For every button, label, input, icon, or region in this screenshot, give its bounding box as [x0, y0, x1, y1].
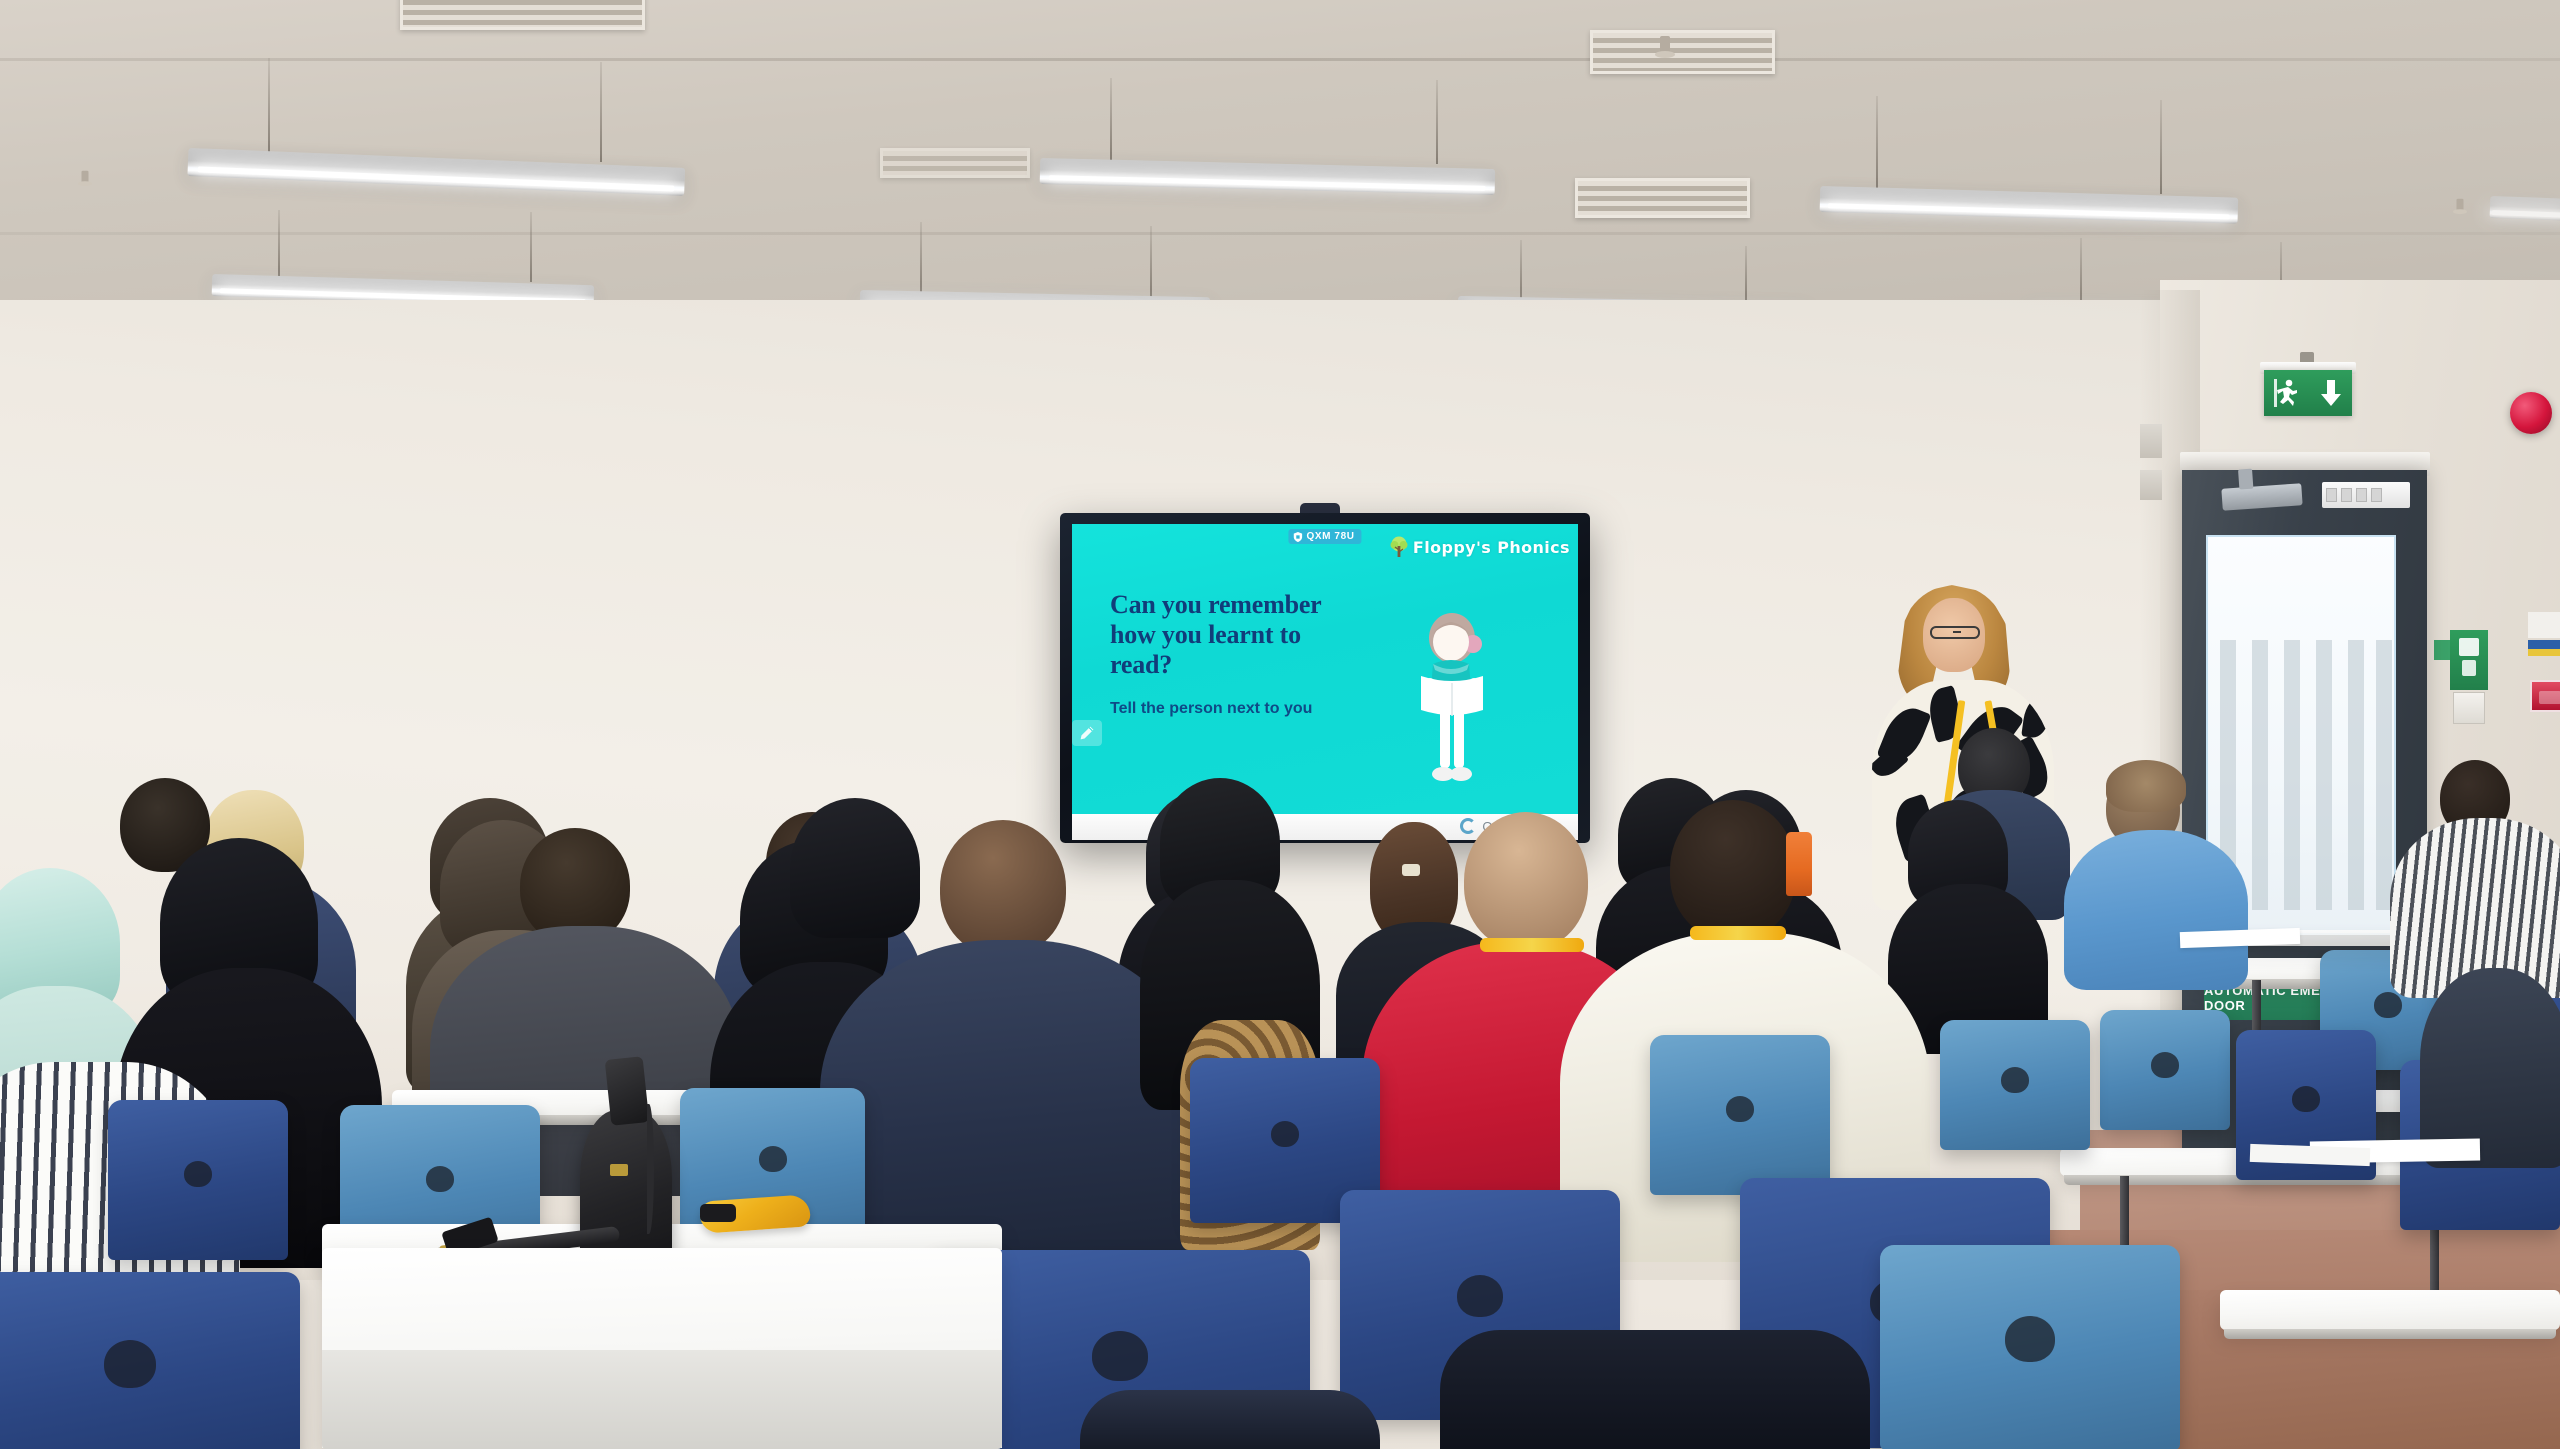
light-cable	[278, 210, 280, 278]
table-front-left-apron	[322, 1350, 1002, 1449]
floppys-phonics-logo: Floppy's Phonics	[1389, 536, 1570, 558]
lanyard-badge-holder	[700, 1204, 736, 1222]
tree-icon	[1389, 536, 1409, 558]
wall-socket-plate	[2140, 424, 2162, 458]
ac-vent	[1575, 178, 1750, 218]
chair-backrest-cutout	[184, 1161, 212, 1187]
ac-vent	[1590, 30, 1775, 74]
first-aid-icon	[2450, 630, 2488, 690]
chair-foreground[interactable]	[0, 1272, 300, 1449]
chair-backrest-cutout	[104, 1340, 156, 1388]
table-edge	[2224, 1329, 2556, 1339]
chair-backrest-cutout	[1726, 1096, 1754, 1122]
lanyard	[1480, 938, 1584, 952]
chair-backrest-cutout	[1092, 1331, 1148, 1381]
ac-vent	[880, 148, 1030, 178]
arrow-down-icon	[2320, 379, 2342, 407]
annotate-tool-button[interactable]	[1072, 720, 1102, 746]
slide-subtext: Tell the person next to you	[1110, 700, 1312, 718]
chair-backrest-cutout	[759, 1146, 787, 1172]
chair-backrest-cutout	[2292, 1086, 2320, 1112]
table-front-right	[2220, 1290, 2560, 1330]
chair-backrest-cutout	[2374, 992, 2402, 1018]
light-cable	[600, 62, 602, 162]
light-cable	[2160, 100, 2162, 194]
light-cable	[1745, 246, 1747, 304]
light-cable	[530, 212, 532, 282]
light-cable	[1150, 226, 1152, 298]
window-blind-slat	[2252, 640, 2268, 910]
light-cable	[1436, 80, 1438, 164]
chair-backrest-cutout	[2151, 1052, 2179, 1078]
chair-backrest-cutout	[2005, 1316, 2055, 1362]
session-code-text: QXM 78U	[1306, 531, 1354, 542]
light-switch-icon[interactable]	[2453, 692, 2485, 724]
pen-icon	[1080, 726, 1094, 740]
emergency-exit-sign	[2264, 370, 2352, 416]
session-code-badge: QXM 78U	[1288, 529, 1361, 544]
chair-foreground[interactable]	[1880, 1245, 2180, 1449]
chair-backrest-cutout	[1457, 1275, 1503, 1317]
window-blind-slat	[2316, 640, 2332, 910]
shield-icon	[1293, 532, 1302, 542]
fire-call-point-icon[interactable]	[2530, 680, 2560, 712]
running-man-exit-icon	[2274, 378, 2300, 408]
window-blind-slat	[2284, 640, 2300, 910]
ac-vent	[400, 0, 645, 30]
window-blind-slat	[2348, 640, 2364, 910]
wall-socket-plate	[2140, 470, 2162, 500]
water-bottle	[1786, 832, 1812, 896]
sprinkler-head	[82, 171, 89, 184]
chair-backrest-cutout	[426, 1166, 454, 1192]
glasses-icon	[1930, 626, 1980, 639]
light-cable	[268, 58, 270, 156]
door-closer-icon	[2221, 483, 2302, 511]
ceiling-seam	[0, 58, 2560, 61]
wall-sticker	[2528, 612, 2560, 638]
lanyard	[1690, 926, 1786, 940]
oxford-ring-icon	[1460, 818, 1476, 834]
sprinkler-head	[2457, 199, 2464, 212]
display-screen[interactable]: QXM 78U Floppy's Phonics Can you remembe…	[1072, 524, 1578, 814]
first-aid-sign	[2450, 630, 2488, 690]
power-socket	[2326, 488, 2337, 502]
sprinkler-head	[1660, 36, 1670, 54]
ceiling-seam	[0, 232, 2560, 235]
classroom-scene: باب الطوارئ الآلي AUTOMATIC EMERGENCY DO…	[0, 0, 2560, 1449]
interactive-display[interactable]: QXM 78U Floppy's Phonics Can you remembe…	[1060, 513, 1590, 843]
fire-alarm-bell-icon	[2510, 392, 2552, 434]
power-socket	[2371, 488, 2382, 502]
light-cable	[1876, 96, 1878, 192]
ceiling-light	[2490, 196, 2560, 221]
wall-power-strip	[2322, 482, 2410, 508]
child-reading-book-icon	[1407, 606, 1497, 796]
window-blind-slat	[2376, 640, 2392, 910]
floppys-phonics-text: Floppy's Phonics	[1413, 538, 1570, 557]
light-cable	[1520, 240, 1522, 302]
wall-sticker-blue	[2528, 640, 2560, 656]
chair[interactable]	[2100, 1010, 2230, 1130]
light-cable	[920, 222, 922, 296]
slide-heading: Can you remember how you learnt to read?	[1110, 590, 1365, 680]
power-socket	[2356, 488, 2367, 502]
power-socket	[2341, 488, 2352, 502]
chair-backrest-cutout	[2001, 1067, 2029, 1093]
attendee-foreground-silhouette	[1440, 1330, 1870, 1449]
chair-backrest-cutout	[1271, 1121, 1299, 1147]
chair[interactable]	[1940, 1020, 2090, 1150]
chair[interactable]	[1650, 1035, 1830, 1195]
hair-clip	[1402, 864, 1420, 876]
light-cable	[1110, 78, 1112, 160]
attendee-foreground-silhouette	[1080, 1390, 1380, 1449]
chair[interactable]	[108, 1100, 288, 1260]
